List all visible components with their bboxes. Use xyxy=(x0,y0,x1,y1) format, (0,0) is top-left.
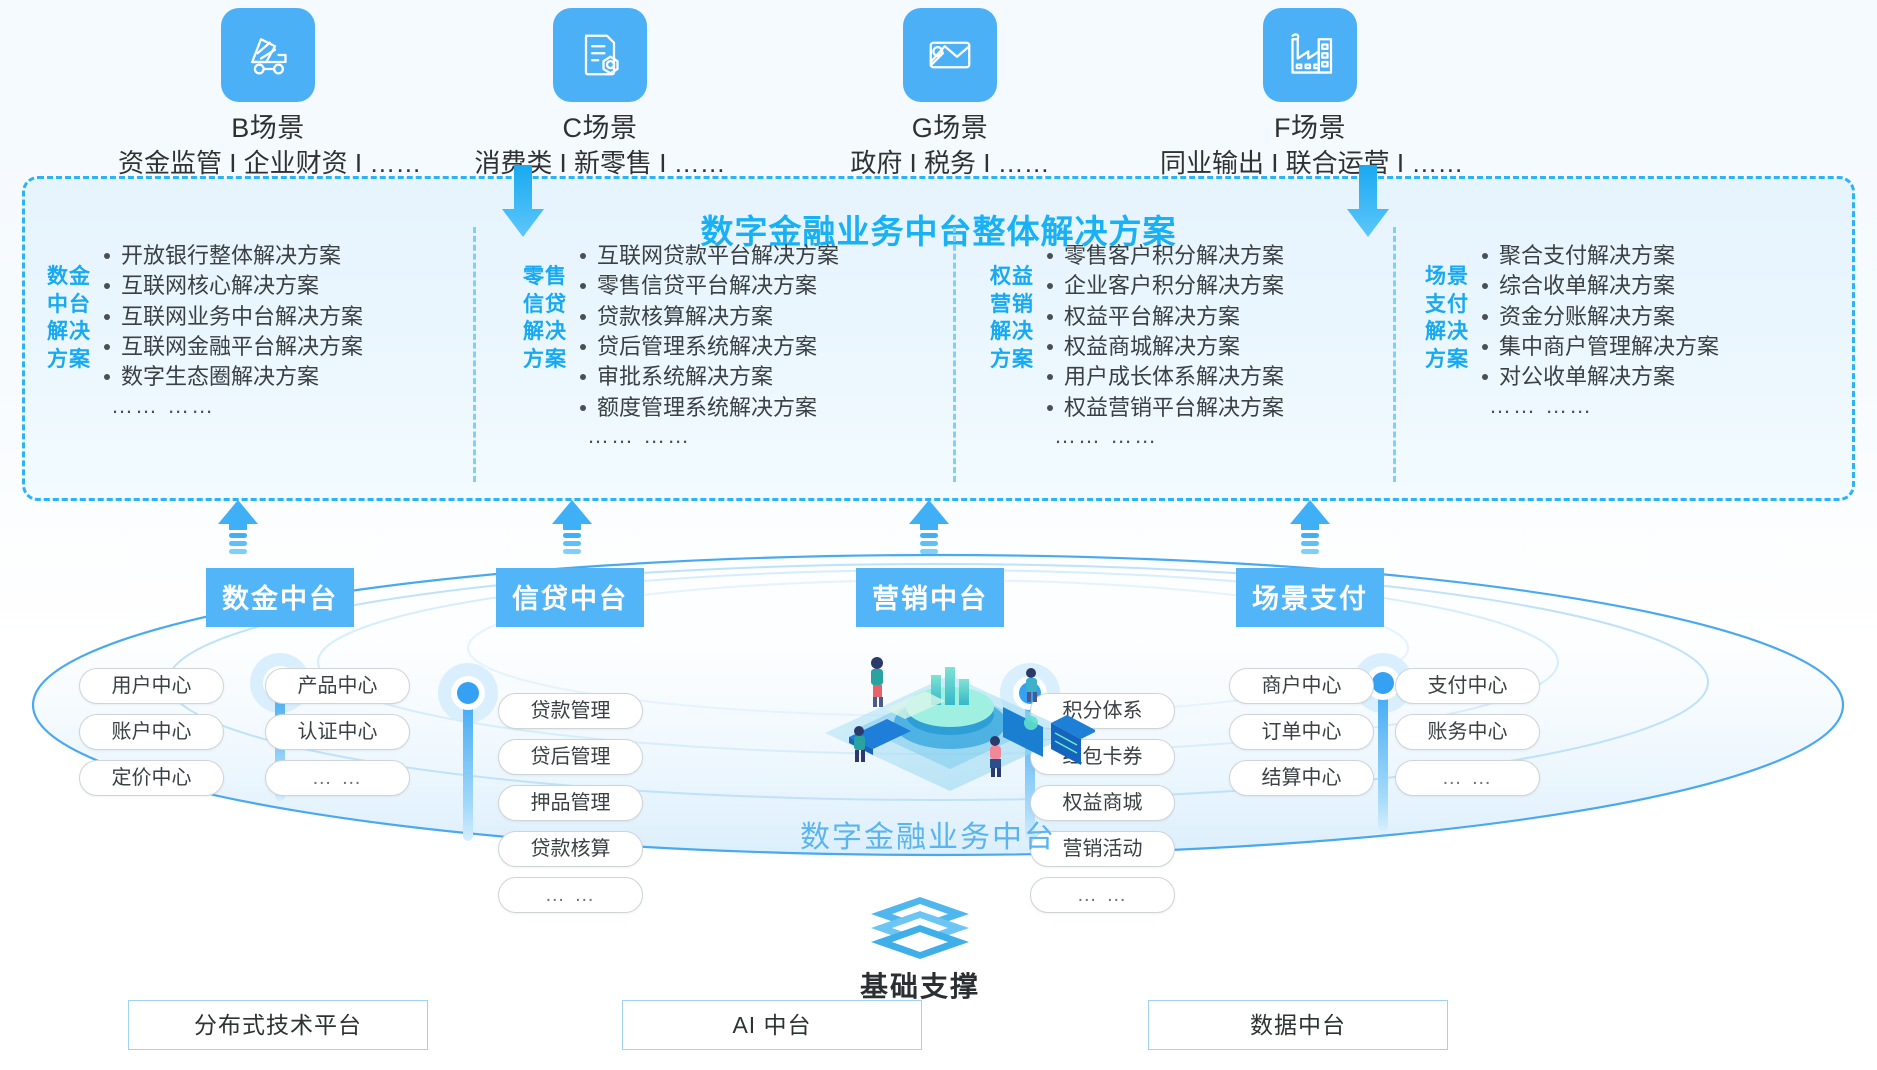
solution-item: 综合收单解决方案 xyxy=(1479,271,1719,301)
capability-pill[interactable]: 账户中心 xyxy=(79,714,224,750)
solution-more: …… …… xyxy=(91,393,363,419)
pin-stem xyxy=(1378,681,1388,831)
ship-cargo-icon xyxy=(221,8,315,102)
platform-title-1[interactable]: 数金中台 xyxy=(206,568,354,627)
scene-title: C场景 xyxy=(450,112,750,144)
document-check-icon xyxy=(553,8,647,102)
capability-pill[interactable]: 结算中心 xyxy=(1229,760,1374,796)
capability-pill[interactable]: 贷款管理 xyxy=(498,693,643,729)
solution-item: 互联网业务中台解决方案 xyxy=(101,302,363,332)
solution-more: …… …… xyxy=(567,423,839,449)
scene-4: F场景同业输出 I 联合运营 I …… xyxy=(1160,0,1460,180)
solution-item: 互联网金融平台解决方案 xyxy=(101,332,363,362)
solution-column-1: 数金中台解决方案开放银行整体解决方案互联网核心解决方案互联网业务中台解决方案互联… xyxy=(47,241,363,419)
solution-item-list: 开放银行整体解决方案互联网核心解决方案互联网业务中台解决方案互联网金融平台解决方… xyxy=(101,241,363,393)
platform-title-4[interactable]: 场景支付 xyxy=(1236,568,1384,627)
scene-title: G场景 xyxy=(800,112,1100,144)
solution-item-list: 零售客户积分解决方案企业客户积分解决方案权益平台解决方案权益商城解决方案用户成长… xyxy=(1044,241,1284,423)
solution-more: …… …… xyxy=(1469,393,1719,419)
solution-item: 权益商城解决方案 xyxy=(1044,332,1284,362)
solution-item: 审批系统解决方案 xyxy=(577,362,839,392)
solution-item-list: 聚合支付解决方案综合收单解决方案资金分账解决方案集中商户管理解决方案对公收单解决… xyxy=(1479,241,1719,393)
capability-pill[interactable]: … … xyxy=(1030,877,1175,913)
solution-item: 企业客户积分解决方案 xyxy=(1044,271,1284,301)
solution-item: 资金分账解决方案 xyxy=(1479,302,1719,332)
foundation-label: 基础支撑 xyxy=(790,965,1050,1005)
scene-2: C场景消费类 I 新零售 I …… xyxy=(450,0,750,180)
solution-item: 权益平台解决方案 xyxy=(1044,302,1284,332)
solution-list-wrapper: 开放银行整体解决方案互联网核心解决方案互联网业务中台解决方案互联网金融平台解决方… xyxy=(91,241,363,419)
column-divider xyxy=(1393,227,1396,482)
solution-column-2: 零售信贷解决方案互联网贷款平台解决方案零售信贷平台解决方案贷款核算解决方案贷后管… xyxy=(523,241,839,450)
capability-pill[interactable]: 产品中心 xyxy=(265,668,410,704)
arrow-down-icon xyxy=(1345,165,1391,243)
column-divider xyxy=(953,227,956,482)
platform-up-arrow-1 xyxy=(216,500,260,566)
foundation-box-3[interactable]: 数据中台 xyxy=(1148,1000,1448,1050)
platform-up-arrow-3 xyxy=(907,500,951,566)
column-divider xyxy=(473,227,476,482)
capability-pill[interactable]: 商户中心 xyxy=(1229,668,1374,704)
platform-up-arrow-4 xyxy=(1288,500,1332,566)
solution-column-3: 权益营销解决方案零售客户积分解决方案企业客户积分解决方案权益平台解决方案权益商城… xyxy=(990,241,1284,450)
map-government-icon xyxy=(903,8,997,102)
solution-column-label: 数金中台解决方案 xyxy=(47,241,91,419)
data-platform-illustration xyxy=(805,645,1095,795)
arrow-up-icon xyxy=(216,500,260,566)
capability-pill[interactable]: … … xyxy=(265,760,410,796)
solution-item: 开放银行整体解决方案 xyxy=(101,241,363,271)
capability-pill[interactable]: 账务中心 xyxy=(1395,714,1540,750)
solution-item: 对公收单解决方案 xyxy=(1479,362,1719,392)
center-platform-label: 数字金融业务中台 xyxy=(800,812,1056,856)
solution-column-label: 零售信贷解决方案 xyxy=(523,241,567,450)
capability-pill[interactable]: … … xyxy=(1395,760,1540,796)
pin-dot xyxy=(457,682,479,704)
solution-list-wrapper: 聚合支付解决方案综合收单解决方案资金分账解决方案集中商户管理解决方案对公收单解决… xyxy=(1469,241,1719,419)
capability-pill[interactable]: 押品管理 xyxy=(498,785,643,821)
solution-item: 零售客户积分解决方案 xyxy=(1044,241,1284,271)
scene-down-arrow-1 xyxy=(500,165,546,243)
foundation-box-2[interactable]: AI 中台 xyxy=(622,1000,922,1050)
solution-item: 聚合支付解决方案 xyxy=(1479,241,1719,271)
capability-pill[interactable]: 认证中心 xyxy=(265,714,410,750)
platform-title-2[interactable]: 信贷中台 xyxy=(496,568,644,627)
arrow-up-icon xyxy=(1288,500,1332,566)
foundation-box-1[interactable]: 分布式技术平台 xyxy=(128,1000,428,1050)
solution-list-wrapper: 互联网贷款平台解决方案零售信贷平台解决方案贷款核算解决方案贷后管理系统解决方案审… xyxy=(567,241,839,450)
solution-item: 数字生态圈解决方案 xyxy=(101,362,363,392)
solution-item: 贷后管理系统解决方案 xyxy=(577,332,839,362)
capability-pill[interactable]: 定价中心 xyxy=(79,760,224,796)
capability-pill[interactable]: 贷款核算 xyxy=(498,831,643,867)
arrow-down-icon xyxy=(500,165,546,243)
solution-list-wrapper: 零售客户积分解决方案企业客户积分解决方案权益平台解决方案权益商城解决方案用户成长… xyxy=(1034,241,1284,450)
solution-item-list: 互联网贷款平台解决方案零售信贷平台解决方案贷款核算解决方案贷后管理系统解决方案审… xyxy=(577,241,839,423)
solution-item: 权益营销平台解决方案 xyxy=(1044,393,1284,423)
platform-up-arrow-2 xyxy=(550,500,594,566)
pin-dot xyxy=(1372,672,1394,694)
solution-item: 用户成长体系解决方案 xyxy=(1044,362,1284,392)
solution-item: 集中商户管理解决方案 xyxy=(1479,332,1719,362)
capability-pill[interactable]: 用户中心 xyxy=(79,668,224,704)
solution-item: 互联网贷款平台解决方案 xyxy=(577,241,839,271)
scene-down-arrow-2 xyxy=(1345,165,1391,243)
scene-title: B场景 xyxy=(118,112,418,144)
capability-pill[interactable]: … … xyxy=(498,877,643,913)
scenes-row: B场景资金监管 I 企业财资 I ……C场景消费类 I 新零售 I ……G场景政… xyxy=(0,0,1877,175)
solution-item: 互联网核心解决方案 xyxy=(101,271,363,301)
pin-stem xyxy=(463,691,473,841)
solution-more: …… …… xyxy=(1034,423,1284,449)
scene-3: G场景政府 I 税务 I …… xyxy=(800,0,1100,180)
capability-pill[interactable]: 贷后管理 xyxy=(498,739,643,775)
capability-pill[interactable]: 订单中心 xyxy=(1229,714,1374,750)
arrow-up-icon xyxy=(550,500,594,566)
solution-item: 额度管理系统解决方案 xyxy=(577,393,839,423)
solutions-panel: 数字金融业务中台整体解决方案 数金中台解决方案开放银行整体解决方案互联网核心解决… xyxy=(22,176,1855,501)
solution-item: 零售信贷平台解决方案 xyxy=(577,271,839,301)
solution-item: 贷款核算解决方案 xyxy=(577,302,839,332)
scene-title: F场景 xyxy=(1160,112,1460,144)
platform-title-3[interactable]: 营销中台 xyxy=(856,568,1004,627)
solution-column-label: 场景支付解决方案 xyxy=(1425,241,1469,419)
factory-icon xyxy=(1263,8,1357,102)
scene-1: B场景资金监管 I 企业财资 I …… xyxy=(118,0,418,180)
solution-column-4: 场景支付解决方案聚合支付解决方案综合收单解决方案资金分账解决方案集中商户管理解决… xyxy=(1425,241,1719,419)
solution-column-label: 权益营销解决方案 xyxy=(990,241,1034,450)
layer-stack-icon xyxy=(865,895,975,965)
capability-pill[interactable]: 支付中心 xyxy=(1395,668,1540,704)
arrow-up-icon xyxy=(907,500,951,566)
